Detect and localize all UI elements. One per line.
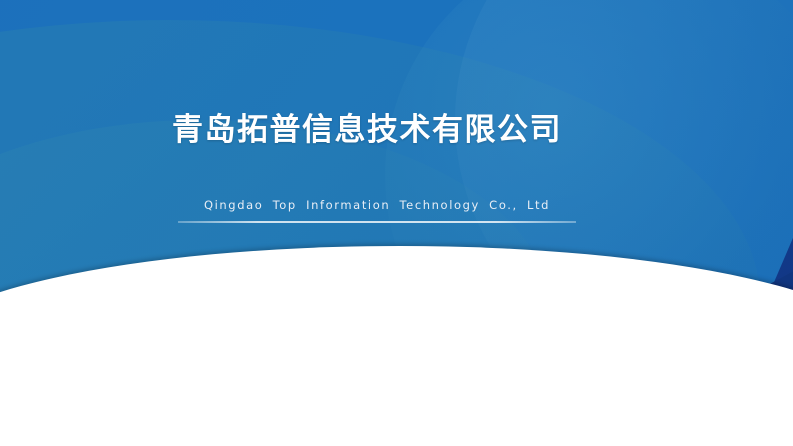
title-slide: 青岛拓普信息技术有限公司 Qingdao Top Information Tec… (0, 0, 793, 446)
divider-curve-white (0, 246, 793, 446)
